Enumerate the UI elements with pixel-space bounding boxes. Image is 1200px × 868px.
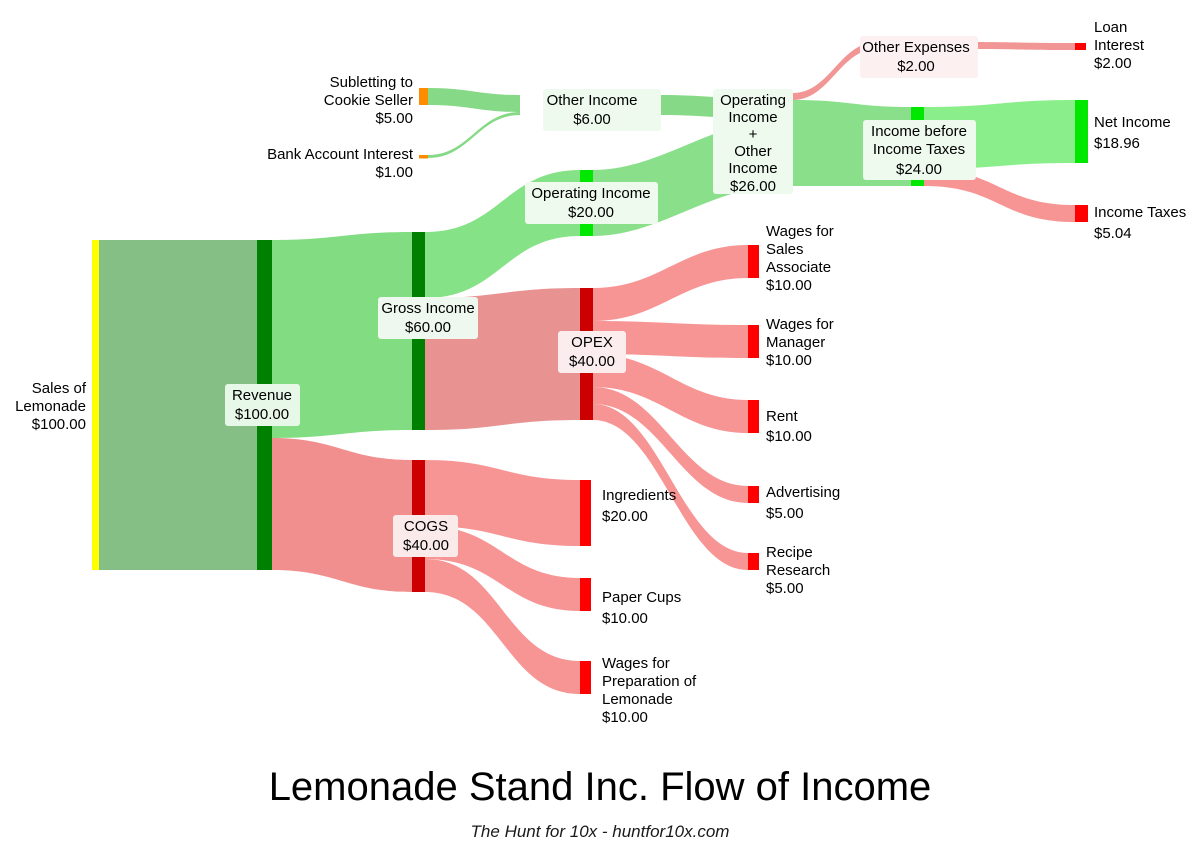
label-wages-sales-associate-line2: Sales <box>766 241 804 258</box>
label-wages-preparation-line3: Lemonade <box>602 691 673 708</box>
label-wages-manager-line1: Wages for <box>766 316 834 333</box>
label-income-before-taxes-amount: $24.00 <box>896 161 942 178</box>
label-operating-income-name: Operating Income <box>531 185 650 202</box>
label-cogs-amount: $40.00 <box>403 537 449 554</box>
label-sales-of-lemonade-line1: Sales of <box>32 380 87 397</box>
label-revenue-name: Revenue <box>232 387 292 404</box>
label-ingredients-name: Ingredients <box>602 487 676 504</box>
label-cogs-name: COGS <box>404 518 448 535</box>
label-bank-account-interest-name: Bank Account Interest <box>267 146 414 163</box>
label-ingredients-amount: $20.00 <box>602 508 648 525</box>
label-income-before-taxes-line1: Income before <box>871 123 967 140</box>
label-wages-manager-amount: $10.00 <box>766 352 812 369</box>
chart-subtitle: The Hunt for 10x - huntfor10x.com <box>471 822 730 841</box>
label-wages-sales-associate-line1: Wages for <box>766 223 834 240</box>
label-other-expenses-amount: $2.00 <box>897 58 935 75</box>
label-net-income-name: Net Income <box>1094 114 1171 131</box>
chart-title: Lemonade Stand Inc. Flow of Income <box>269 765 932 809</box>
label-income-before-taxes-line2: Income Taxes <box>873 141 965 158</box>
label-oi-plus-other-line3: + <box>749 126 758 143</box>
link-other-expenses-to-loan-interest <box>963 42 1075 50</box>
label-oi-plus-other-line1: Operating <box>720 92 786 109</box>
node-net-income[interactable] <box>1075 100 1088 163</box>
link-opex-to-wages-sales-associate <box>593 245 748 321</box>
node-bank-account-interest[interactable] <box>419 155 428 159</box>
label-loan-interest-line1: Loan <box>1094 19 1127 36</box>
node-paper-cups[interactable] <box>580 578 591 611</box>
label-recipe-research-amount: $5.00 <box>766 580 804 597</box>
label-recipe-research-line1: Recipe <box>766 544 813 561</box>
label-other-income-amount: $6.00 <box>573 111 611 128</box>
label-opex-name: OPEX <box>571 334 613 351</box>
link-subletting-to-other-income <box>428 88 520 112</box>
label-advertising-name: Advertising <box>766 484 840 501</box>
label-advertising-amount: $5.00 <box>766 505 804 522</box>
label-rent-amount: $10.00 <box>766 428 812 445</box>
label-gross-income-amount: $60.00 <box>405 319 451 336</box>
label-wages-manager-line2: Manager <box>766 334 825 351</box>
label-subletting-amount: $5.00 <box>375 110 413 127</box>
label-gross-income-name: Gross Income <box>381 300 474 317</box>
label-recipe-research-line2: Research <box>766 562 830 579</box>
label-loan-interest-line2: Interest <box>1094 37 1145 54</box>
label-oi-plus-other-line2: Income <box>728 109 777 126</box>
label-income-taxes-name: Income Taxes <box>1094 204 1186 221</box>
label-paper-cups-amount: $10.00 <box>602 610 648 627</box>
node-recipe-research[interactable] <box>748 553 759 570</box>
link-bank-interest-to-other-income <box>428 112 520 158</box>
label-opex-amount: $40.00 <box>569 353 615 370</box>
label-subletting-line1: Subletting to <box>330 74 413 91</box>
node-sales-of-lemonade[interactable] <box>92 240 99 570</box>
node-wages-for-preparation-of-lemonade[interactable] <box>580 661 591 694</box>
label-loan-interest-amount: $2.00 <box>1094 55 1132 72</box>
label-sales-of-lemonade-amount: $100.00 <box>32 416 86 433</box>
label-other-income-name: Other Income <box>547 92 638 109</box>
node-wages-for-sales-associate[interactable] <box>748 245 759 278</box>
label-net-income-amount: $18.96 <box>1094 135 1140 152</box>
link-revenue-to-cogs <box>272 438 412 592</box>
label-paper-cups-name: Paper Cups <box>602 589 681 606</box>
sankey-chart-svg: Revenue $100.00 Gross Income $60.00 COGS… <box>0 0 1200 868</box>
label-operating-income-amount: $20.00 <box>568 204 614 221</box>
node-subletting-to-cookie-seller[interactable] <box>419 88 428 105</box>
label-wages-sales-associate-line3: Associate <box>766 259 831 276</box>
label-wages-preparation-line2: Preparation of <box>602 673 697 690</box>
label-oi-plus-other-line5: Income <box>728 160 777 177</box>
label-rent-name: Rent <box>766 408 799 425</box>
node-loan-interest[interactable] <box>1075 43 1086 50</box>
label-wages-preparation-amount: $10.00 <box>602 709 648 726</box>
node-advertising[interactable] <box>748 486 759 503</box>
label-oi-plus-other-line4: Other <box>734 143 772 160</box>
node-income-taxes[interactable] <box>1075 205 1088 222</box>
label-other-expenses-name: Other Expenses <box>862 39 970 56</box>
label-subletting-line2: Cookie Seller <box>324 92 413 109</box>
label-bank-account-interest-amount: $1.00 <box>375 164 413 181</box>
label-income-taxes-amount: $5.04 <box>1094 225 1132 242</box>
label-revenue-amount: $100.00 <box>235 406 289 423</box>
label-wages-sales-associate-amount: $10.00 <box>766 277 812 294</box>
node-ingredients[interactable] <box>580 480 591 546</box>
node-wages-for-manager[interactable] <box>748 325 759 358</box>
label-sales-of-lemonade-line2: Lemonade <box>15 398 86 415</box>
sankey-diagram-page: Revenue $100.00 Gross Income $60.00 COGS… <box>0 0 1200 868</box>
label-wages-preparation-line1: Wages for <box>602 655 670 672</box>
label-oi-plus-other-amount: $26.00 <box>730 178 776 195</box>
node-rent[interactable] <box>748 400 759 433</box>
